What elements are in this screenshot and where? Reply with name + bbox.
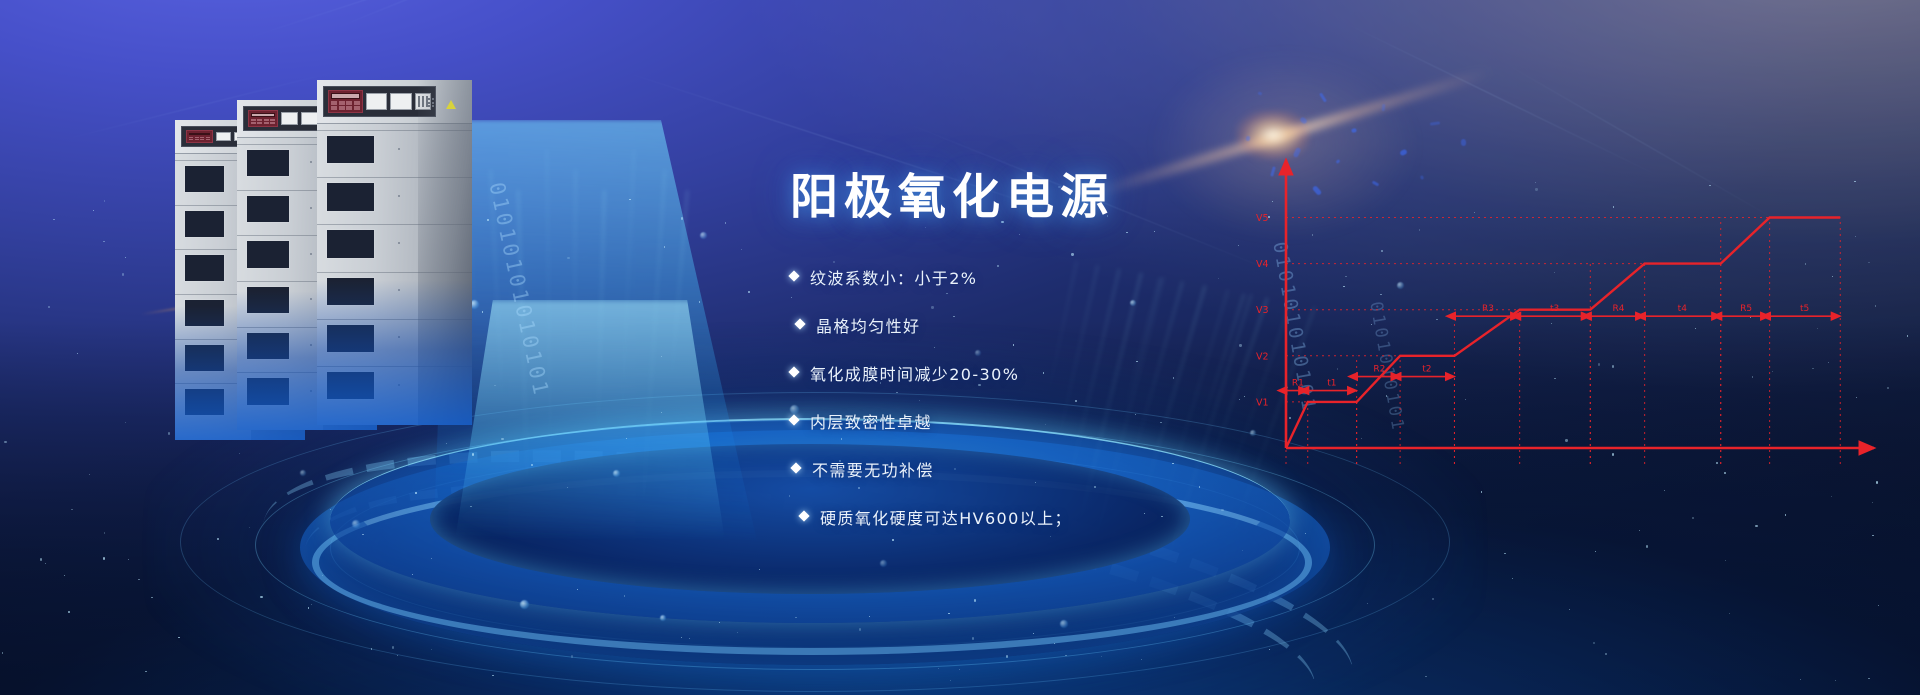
particle bbox=[972, 637, 974, 639]
feature-list-item-label: 不需要无功补偿 bbox=[812, 457, 934, 481]
feature-list-item-label: 晶格均匀性好 bbox=[816, 313, 920, 337]
cabinet-screw bbox=[310, 344, 312, 346]
cabinet-vent-door bbox=[327, 183, 374, 210]
vent-hole bbox=[428, 102, 430, 104]
particle bbox=[40, 558, 42, 560]
particle bbox=[1785, 514, 1786, 515]
feature-list-item: 硬质氧化硬度可达HV600以上； bbox=[800, 505, 1310, 529]
hmi-key[interactable] bbox=[257, 119, 262, 121]
diamond-bullet-icon bbox=[794, 319, 805, 330]
chart-ramp-label: R1 bbox=[1292, 379, 1304, 389]
cabinet-vent-door bbox=[327, 325, 374, 352]
particle bbox=[68, 611, 69, 612]
particle bbox=[308, 607, 309, 608]
cabinet-screw bbox=[310, 253, 312, 255]
cabinet-vent-door bbox=[327, 136, 374, 163]
particle bbox=[1605, 653, 1606, 654]
diamond-bullet-icon bbox=[788, 415, 799, 426]
hmi-key[interactable] bbox=[331, 106, 337, 110]
panel-label-plate bbox=[281, 112, 299, 125]
particle bbox=[1504, 553, 1505, 554]
cabinet-vent-door bbox=[247, 333, 289, 359]
cabinet-screw bbox=[398, 148, 400, 150]
particle bbox=[392, 646, 394, 648]
cabinet-vent-door bbox=[185, 255, 224, 281]
panel-label-plate bbox=[216, 132, 231, 142]
particle bbox=[362, 534, 363, 535]
voltage-step-chart: V1V2V3V4V5R1t1R2t2R3t3R4t4R5t5 bbox=[1240, 150, 1880, 500]
chart-y-tick-label: V2 bbox=[1256, 351, 1269, 362]
diamond-bullet-icon bbox=[790, 463, 801, 474]
hmi-key[interactable] bbox=[264, 119, 269, 121]
cabinet-vent-door bbox=[247, 150, 289, 176]
panel-label-plate bbox=[366, 93, 387, 110]
particle bbox=[1425, 676, 1426, 677]
cabinet-vent-door bbox=[247, 241, 289, 267]
particle bbox=[103, 557, 105, 559]
cabinet-vent-door bbox=[327, 372, 374, 399]
hmi-key[interactable] bbox=[339, 101, 345, 105]
hmi-key[interactable] bbox=[206, 139, 210, 140]
cabinet-vent-door bbox=[247, 378, 289, 404]
particle bbox=[1729, 613, 1730, 614]
diamond-bullet-icon bbox=[788, 271, 799, 282]
particle bbox=[4, 441, 6, 443]
particle bbox=[322, 575, 323, 576]
cabinet-vent-door bbox=[327, 278, 374, 305]
cabinet-screw bbox=[398, 384, 400, 386]
feature-list-item: 内层致密性卓越 bbox=[790, 409, 1310, 433]
particle bbox=[567, 257, 569, 259]
feature-list-item: 晶格均匀性好 bbox=[796, 313, 1310, 337]
particle bbox=[128, 559, 129, 560]
particle bbox=[53, 219, 54, 220]
chart-ramp-label: R2 bbox=[1373, 365, 1385, 375]
particle bbox=[737, 632, 738, 633]
power-supply-cabinet bbox=[317, 80, 472, 425]
bokeh-chip bbox=[1461, 139, 1466, 146]
particle bbox=[48, 306, 49, 307]
chart-step-curve bbox=[1286, 217, 1840, 448]
banner-stage: 01010101010101 010101010101 0101010101 阳… bbox=[0, 0, 1920, 695]
vent-hole bbox=[432, 98, 434, 100]
chart-y-tick-label: V4 bbox=[1256, 259, 1269, 270]
chart-ramp-label: R5 bbox=[1740, 304, 1752, 314]
hmi-keypad[interactable] bbox=[328, 90, 363, 113]
feature-list-item-label: 硬质氧化硬度可达HV600以上； bbox=[820, 505, 1072, 529]
cabinet-vent-door bbox=[247, 287, 289, 313]
chart-y-tick-label: V3 bbox=[1256, 305, 1269, 316]
cabinet-vent-door bbox=[327, 230, 374, 257]
feature-list-item: 不需要无功补偿 bbox=[792, 457, 1310, 481]
hmi-key[interactable] bbox=[331, 101, 337, 105]
hmi-key[interactable] bbox=[270, 119, 275, 121]
particle bbox=[103, 241, 104, 242]
particle bbox=[151, 597, 152, 598]
particle bbox=[217, 538, 218, 539]
cabinet-vent-door bbox=[185, 166, 224, 192]
hmi-key[interactable] bbox=[195, 139, 199, 140]
feature-list: 纹波系数小：小于2%晶格均匀性好氧化成膜时间减少20-30%内层致密性卓越不需要… bbox=[790, 265, 1310, 529]
cabinet-side-face bbox=[418, 80, 472, 425]
text-content: 阳极氧化电源 纹波系数小：小于2%晶格均匀性好氧化成膜时间减少20-30%内层致… bbox=[790, 170, 1310, 553]
hmi-display bbox=[331, 93, 360, 99]
chart-hold-label: t2 bbox=[1422, 365, 1431, 375]
particle bbox=[725, 222, 726, 223]
panel-label-plate bbox=[390, 93, 411, 110]
particle bbox=[412, 574, 413, 575]
hmi-key[interactable] bbox=[251, 122, 256, 124]
particle bbox=[1033, 633, 1034, 634]
particle bbox=[577, 589, 578, 590]
hmi-display bbox=[251, 113, 275, 117]
hmi-key[interactable] bbox=[339, 106, 345, 110]
particle bbox=[626, 438, 627, 439]
bokeh-particle bbox=[700, 232, 707, 239]
hmi-key[interactable] bbox=[200, 139, 204, 140]
voltage-step-chart-svg: V1V2V3V4V5R1t1R2t2R3t3R4t4R5t5 bbox=[1240, 150, 1880, 500]
bokeh-particle bbox=[300, 470, 306, 476]
feature-list-item-label: 内层致密性卓越 bbox=[810, 409, 932, 433]
particle bbox=[1646, 545, 1648, 547]
equipment-cabinets bbox=[175, 80, 505, 450]
hmi-key[interactable] bbox=[270, 122, 275, 124]
particle bbox=[93, 210, 94, 211]
bokeh-particle bbox=[1060, 620, 1068, 628]
particle bbox=[661, 412, 662, 413]
bokeh-particle bbox=[520, 600, 529, 609]
hmi-key[interactable] bbox=[257, 122, 262, 124]
warning-triangle-icon bbox=[446, 100, 456, 109]
particle bbox=[1639, 530, 1640, 531]
particle bbox=[472, 453, 474, 455]
chart-y-tick-label: V1 bbox=[1256, 397, 1269, 408]
particle bbox=[1887, 387, 1888, 388]
cabinet-vent-door bbox=[185, 211, 224, 237]
cabinet-vent-door bbox=[247, 196, 289, 222]
particle bbox=[859, 628, 861, 630]
particle bbox=[689, 638, 690, 639]
feature-list-item: 纹波系数小：小于2% bbox=[790, 265, 1310, 289]
particle bbox=[415, 492, 416, 493]
chart-hold-label: t5 bbox=[1800, 304, 1809, 314]
chart-hold-label: t1 bbox=[1327, 379, 1336, 389]
particle bbox=[681, 217, 683, 219]
cabinet-screw bbox=[398, 195, 400, 197]
vent-hole bbox=[432, 105, 434, 107]
hmi-key[interactable] bbox=[354, 106, 360, 110]
hmi-key-grid[interactable] bbox=[251, 119, 275, 124]
hmi-key[interactable] bbox=[189, 137, 193, 138]
cabinet-screw bbox=[310, 390, 312, 392]
chart-ramp-label: R3 bbox=[1482, 304, 1494, 314]
bokeh-particle bbox=[880, 560, 887, 567]
cabinet-vent-door bbox=[185, 389, 224, 415]
cabinet-vent-door bbox=[185, 300, 224, 326]
hmi-key[interactable] bbox=[200, 137, 204, 138]
hmi-keypad[interactable] bbox=[248, 110, 278, 127]
particle bbox=[1907, 335, 1908, 336]
chart-hold-label: t3 bbox=[1550, 304, 1559, 314]
hmi-key[interactable] bbox=[189, 139, 193, 140]
bokeh-particle bbox=[613, 470, 620, 477]
hmi-key[interactable] bbox=[264, 122, 269, 124]
feature-list-item-label: 氧化成膜时间减少20-30% bbox=[810, 361, 1019, 385]
chart-y-tick-label: V5 bbox=[1256, 213, 1269, 224]
chart-hold-label: t4 bbox=[1678, 304, 1688, 314]
particle bbox=[748, 291, 749, 292]
bokeh-particle bbox=[660, 615, 666, 621]
vent-hole bbox=[428, 98, 430, 100]
feature-list-item-label: 纹波系数小：小于2% bbox=[810, 265, 977, 289]
page-title: 阳极氧化电源 bbox=[790, 170, 1310, 225]
diamond-bullet-icon bbox=[798, 511, 809, 522]
particle bbox=[371, 648, 372, 649]
particle bbox=[1054, 643, 1055, 644]
particle bbox=[1432, 598, 1433, 599]
vent-hole bbox=[432, 102, 434, 104]
hmi-key-grid[interactable] bbox=[331, 101, 360, 110]
cabinet-screw bbox=[398, 242, 400, 244]
hmi-key[interactable] bbox=[346, 106, 352, 110]
hmi-display bbox=[189, 133, 210, 135]
cabinet-vent-door bbox=[185, 345, 224, 371]
particle bbox=[89, 474, 90, 475]
bokeh-particle bbox=[352, 520, 360, 528]
particle bbox=[1755, 525, 1757, 527]
hmi-keypad[interactable] bbox=[186, 130, 213, 143]
feature-list-item: 氧化成膜时间减少20-30% bbox=[790, 361, 1310, 385]
hmi-key[interactable] bbox=[346, 101, 352, 105]
particle bbox=[470, 506, 471, 507]
particle bbox=[571, 655, 573, 657]
hmi-key[interactable] bbox=[195, 137, 199, 138]
particle bbox=[1868, 678, 1869, 679]
particle bbox=[681, 637, 682, 638]
hmi-key[interactable] bbox=[206, 137, 210, 138]
cabinet-vent-grill bbox=[428, 98, 434, 107]
hmi-key[interactable] bbox=[354, 101, 360, 105]
cabinet-screw bbox=[310, 207, 312, 209]
chart-ramp-label: R4 bbox=[1612, 304, 1624, 314]
diamond-bullet-icon bbox=[788, 367, 799, 378]
hmi-key-grid[interactable] bbox=[189, 137, 210, 140]
hmi-key[interactable] bbox=[251, 119, 256, 121]
particle bbox=[869, 616, 870, 617]
vent-hole bbox=[428, 105, 430, 107]
particle bbox=[1872, 502, 1873, 503]
